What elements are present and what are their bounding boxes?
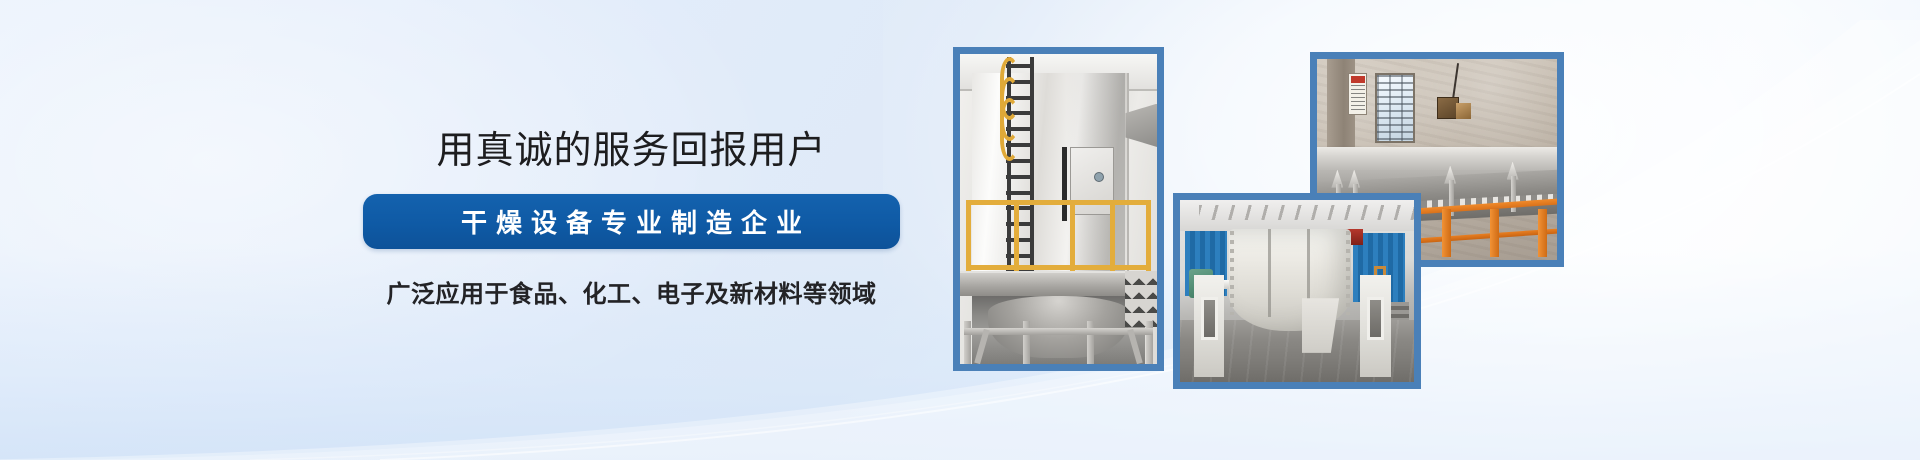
spray-dryer-scene	[960, 54, 1157, 364]
hero-banner: 用真诚的服务回报用户 干燥设备专业制造企业 广泛应用于食品、化工、电子及新材料等…	[0, 0, 1920, 460]
tagline-badge: 干燥设备专业制造企业	[363, 194, 900, 249]
ribbon-mixer-scene	[1180, 200, 1414, 382]
photo-ribbon-mixer	[1173, 193, 1421, 389]
tagline-badge-label: 干燥设备专业制造企业	[452, 203, 811, 240]
page-subtitle: 广泛应用于食品、化工、电子及新材料等领域	[363, 274, 900, 309]
photo-spray-dryer	[953, 47, 1164, 371]
hero-copy: 用真诚的服务回报用户 干燥设备专业制造企业 广泛应用于食品、化工、电子及新材料等…	[363, 128, 900, 309]
page-title: 用真诚的服务回报用户	[363, 128, 900, 176]
